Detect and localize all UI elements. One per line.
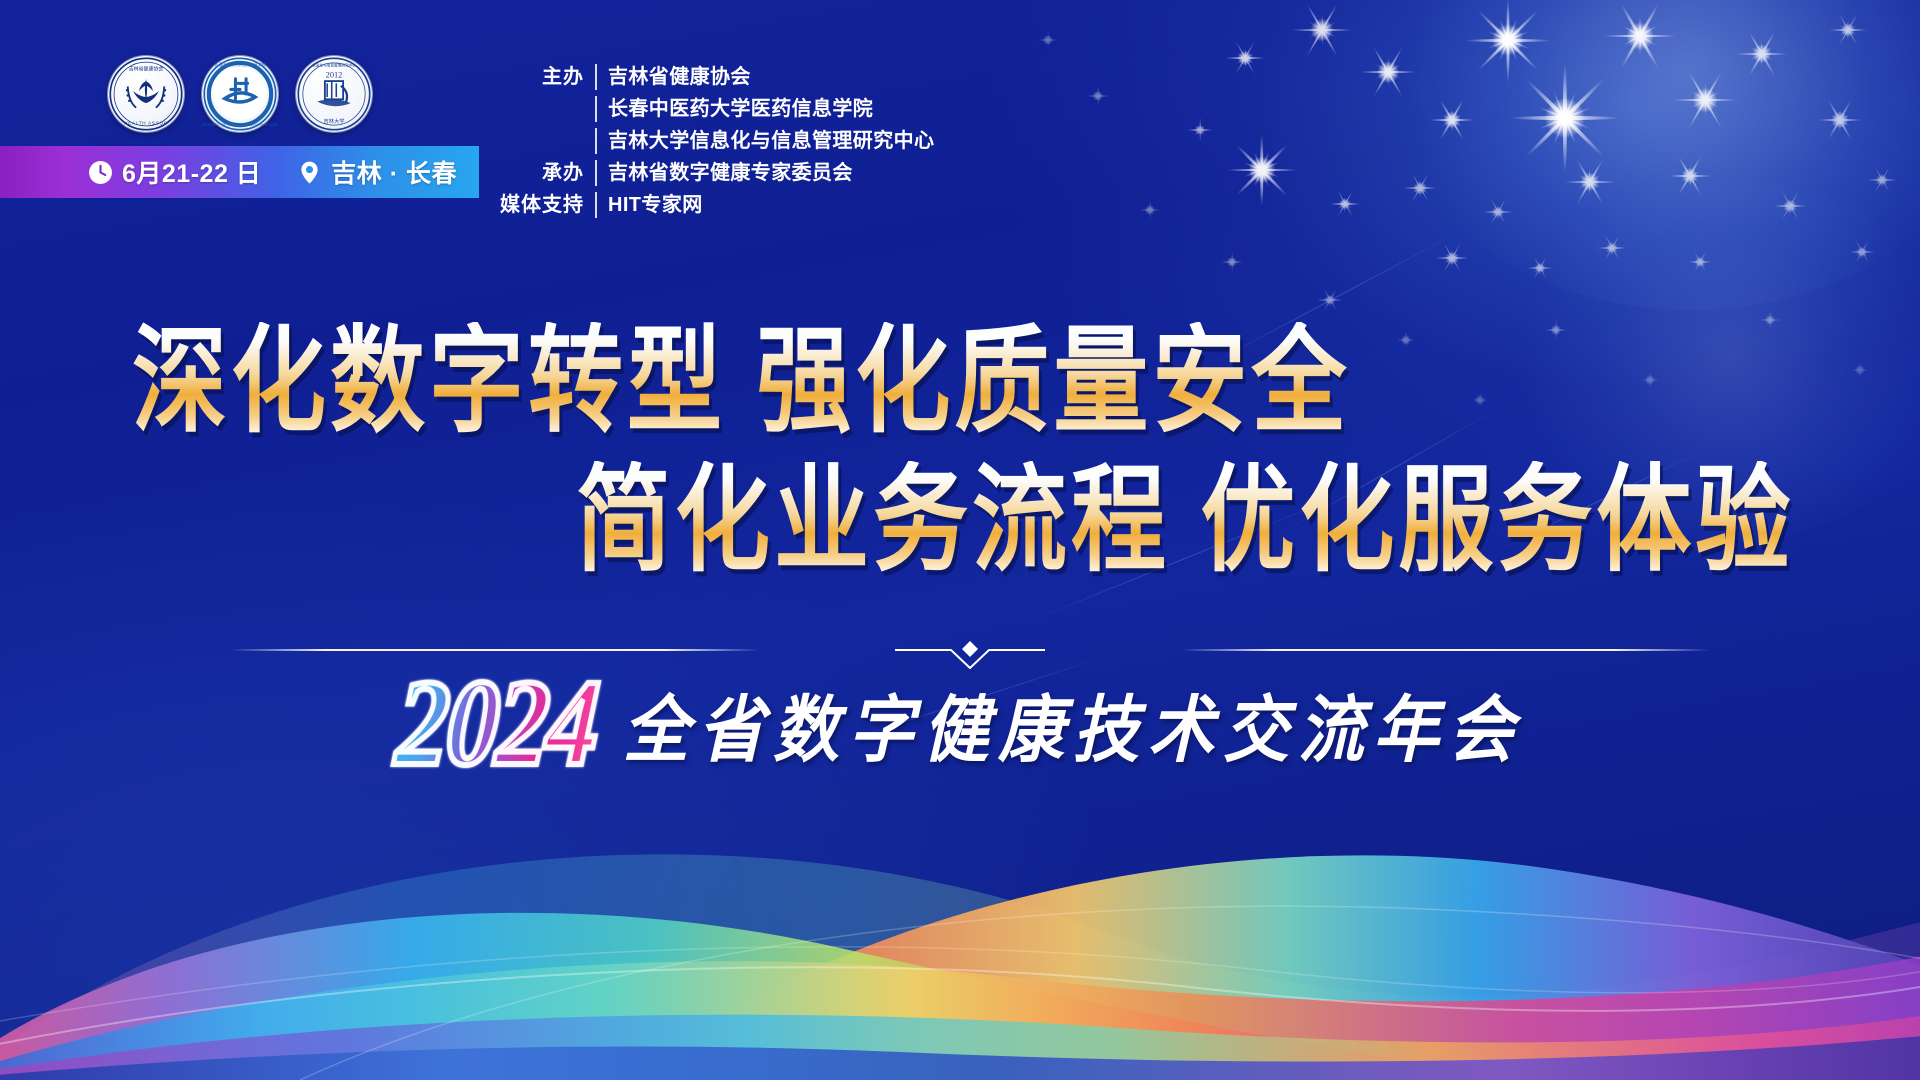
logo-changchun-medical-info-school: 长春中医药大学医药信息学院 SCHOOL OF MEDICAL INFORMAT… (202, 56, 278, 132)
location-text: 吉林 · 长春 (331, 154, 457, 190)
logo-group: 吉林省健康协会 HEALTH ASSOC 长春中医药大学医药信息学院 SCHOO… (108, 56, 372, 132)
logo-jilin-university-info-center: 2012 信息化与信息管理研究中心 吉林大学 (296, 56, 372, 132)
organizer-row: 吉林大学信息化与信息管理研究中心 (498, 126, 934, 156)
organizer-divider (595, 192, 597, 218)
svg-text:2012: 2012 (326, 70, 343, 79)
svg-text:吉林大学: 吉林大学 (323, 117, 345, 125)
date-text: 6月21-22 日 (122, 154, 261, 190)
headline-line-1: 深化数字转型 强化质量安全 (0, 322, 1920, 443)
organizer-divider (595, 128, 597, 154)
organizer-value: 长春中医药大学医药信息学院 (608, 94, 873, 124)
date-item: 6月21-22 日 (88, 154, 261, 190)
organizer-label: 主办 (498, 62, 584, 92)
organizer-row: 长春中医药大学医药信息学院 (498, 94, 934, 124)
headline-line-2: 简化业务流程 优化服务体验 (0, 461, 1920, 582)
clock-icon (88, 160, 113, 185)
svg-text:长春中医药大学医药信息学院: 长春中医药大学医药信息学院 (214, 62, 265, 67)
organizer-value: 吉林省健康协会 (608, 62, 751, 92)
organizer-row: 承办 吉林省数字健康专家委员会 (498, 158, 934, 188)
divider-line-right (1180, 649, 1710, 651)
svg-text:SCHOOL OF MEDICAL INFORMATION: SCHOOL OF MEDICAL INFORMATION (202, 123, 277, 127)
date-location-bar: 6月21-22 日 吉林 · 长春 (0, 146, 479, 198)
organizer-label: 承办 (498, 158, 584, 188)
organizer-divider (595, 64, 597, 90)
organizer-block: 主办 吉林省健康协会 长春中医药大学医药信息学院 吉林大学信息化与信息管理研究中… (498, 62, 934, 220)
organizer-value: 吉林省数字健康专家委员会 (608, 158, 853, 188)
divider-diamond-icon (895, 635, 1045, 669)
organizer-label: 媒体支持 (498, 190, 584, 220)
organizer-value: 吉林大学信息化与信息管理研究中心 (608, 126, 934, 156)
organizer-divider (595, 96, 597, 122)
svg-text:HEALTH ASSOC: HEALTH ASSOC (124, 120, 168, 125)
divider-line-left (230, 649, 760, 651)
organizer-divider (595, 160, 597, 186)
glow-patch-top-right (1380, 0, 1920, 310)
organizer-row: 媒体支持 HIT专家网 (498, 190, 934, 220)
conference-banner: 吉林省健康协会 HEALTH ASSOC 长春中医药大学医药信息学院 SCHOO… (0, 0, 1920, 1080)
svg-text:吉林省健康协会: 吉林省健康协会 (129, 65, 164, 72)
svg-text:信息化与信息管理研究中心: 信息化与信息管理研究中心 (312, 63, 356, 68)
location-pin-icon (297, 160, 322, 185)
organizer-row: 主办 吉林省健康协会 (498, 62, 934, 92)
wave-ribbons (0, 680, 1920, 1080)
organizer-value: HIT专家网 (608, 190, 703, 220)
headline-block: 深化数字转型 强化质量安全 简化业务流程 优化服务体验 (0, 322, 1920, 560)
logo-jilin-health-association: 吉林省健康协会 HEALTH ASSOC (108, 56, 184, 132)
location-item: 吉林 · 长春 (297, 154, 457, 190)
